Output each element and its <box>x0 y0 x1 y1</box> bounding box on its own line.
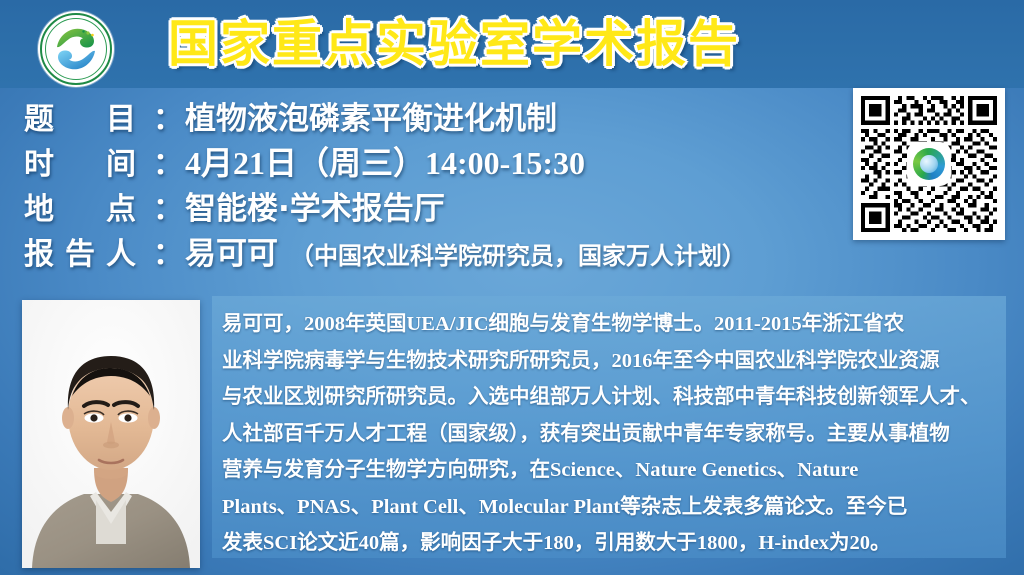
info-row-topic: 题 目 ： 植物液泡磷素平衡进化机制 <box>24 93 864 138</box>
info-value-topic: 植物液泡磷素平衡进化机制 <box>185 93 557 138</box>
bio-line: 营养与发育分子生物学方向研究，在Science、Nature Genetics、… <box>222 452 1000 489</box>
info-colon-speaker: ： <box>147 229 185 273</box>
qr-center-lab-emblem-icon <box>909 144 949 184</box>
poster-header: 国家重点实验室学术报告 <box>0 0 1024 88</box>
bio-line: 易可可，2008年英国UEA/JIC细胞与发育生物学博士。2011-2015年浙… <box>222 306 1000 343</box>
qr-emblem-core <box>920 155 938 173</box>
info-label-speaker: 报告人 <box>24 229 147 273</box>
info-value-venue: 智能楼·学术报告厅 <box>185 183 445 228</box>
info-speaker-affiliation: （中国农业科学院研究员，国家万人计划） <box>278 236 746 271</box>
speaker-portrait-image <box>22 300 200 568</box>
info-label-time: 时 间 <box>24 139 147 183</box>
bio-line: 人社部百千万人才工程（国家级），获有突出贡献中青年专家称号。主要从事植物 <box>222 416 1000 453</box>
seminar-poster: 国家重点实验室学术报告 题 目 ： 植物液泡磷素平衡进化机制 时 间 ： 4月2… <box>0 0 1024 575</box>
info-value-speaker: 易可可 <box>185 228 278 273</box>
state-key-laboratory-emblem-icon <box>38 11 114 87</box>
bio-line: 与农业区划研究所研究员。入选中组部万人计划、科技部中青年科技创新领军人才、 <box>222 379 1000 416</box>
info-colon-topic: ： <box>147 94 185 138</box>
page-title: 国家重点实验室学术报告 <box>168 13 868 75</box>
bio-line: 业科学院病毒学与生物技术研究所研究员，2016年至今中国农业科学院农业资源 <box>222 343 1000 380</box>
info-row-time: 时 间 ： 4月21日（周三）14:00-15:30 <box>24 138 864 183</box>
bio-line: 发表SCI论文近40篇，影响因子大于180，引用数大于1800，H-index为… <box>222 525 1000 562</box>
info-label-topic: 题 目 <box>24 94 147 138</box>
info-row-speaker: 报告人 ： 易可可 （中国农业科学院研究员，国家万人计划） <box>24 228 864 273</box>
info-colon-venue: ： <box>147 184 185 228</box>
qr-code-card[interactable] <box>853 88 1005 240</box>
emblem-artwork <box>38 11 114 87</box>
info-colon-time: ： <box>147 139 185 183</box>
speaker-bio-panel: 易可可，2008年英国UEA/JIC细胞与发育生物学博士。2011-2015年浙… <box>212 296 1006 558</box>
info-label-venue: 地 点 <box>24 184 147 228</box>
bio-line: Plants、PNAS、Plant Cell、Molecular Plant等杂… <box>222 489 1000 526</box>
event-info-block: 题 目 ： 植物液泡磷素平衡进化机制 时 间 ： 4月21日（周三）14:00-… <box>24 93 864 273</box>
info-value-time: 4月21日（周三）14:00-15:30 <box>185 138 585 184</box>
speaker-portrait <box>22 300 200 568</box>
info-row-venue: 地 点 ： 智能楼·学术报告厅 <box>24 183 864 228</box>
